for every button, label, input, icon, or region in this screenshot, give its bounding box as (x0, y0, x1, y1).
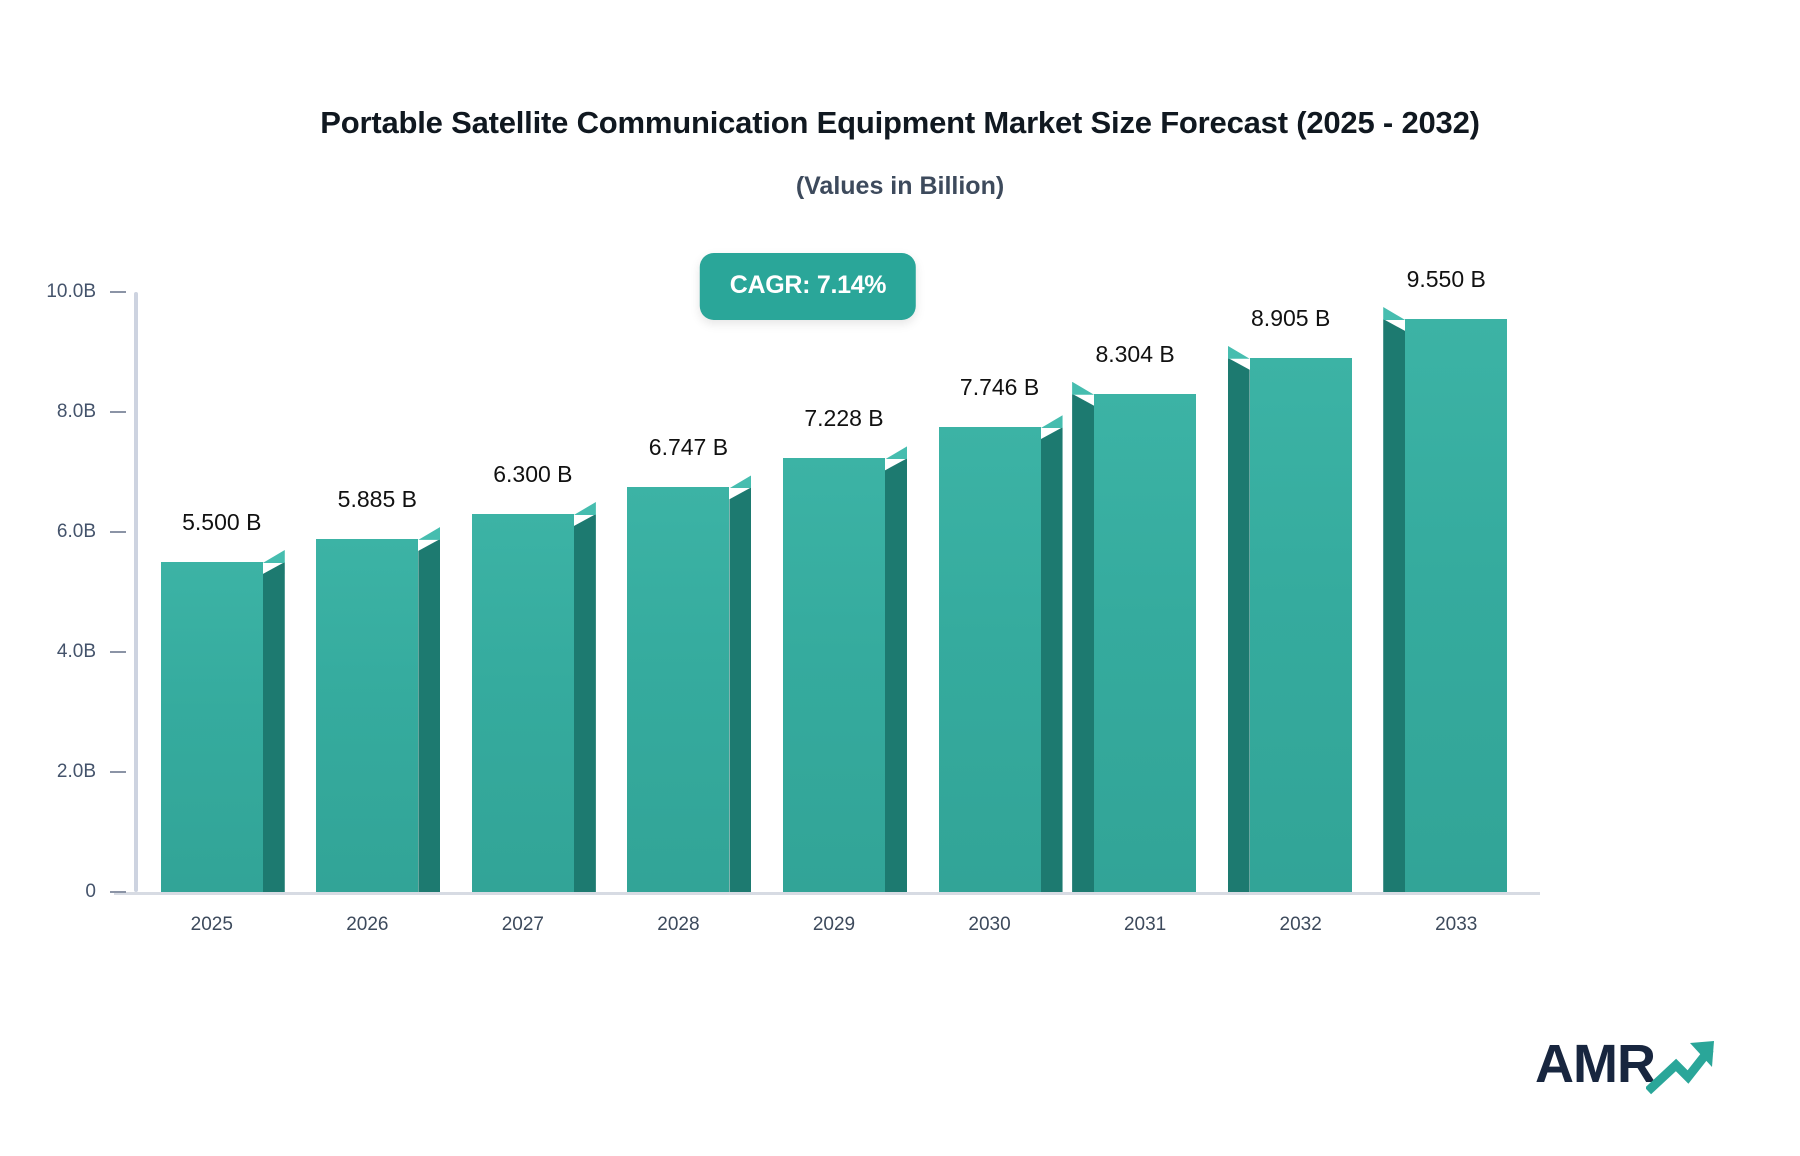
bar[interactable] (783, 458, 885, 892)
y-axis-tick-mark (110, 291, 126, 294)
bar-slot: 7.746 B (939, 292, 1041, 892)
bar-side-face (1383, 319, 1405, 892)
bar[interactable] (161, 562, 263, 892)
bar-slot: 5.885 B (316, 292, 418, 892)
bar[interactable] (1250, 358, 1352, 892)
y-axis-tick: 10.0B (0, 281, 126, 303)
x-axis-tick-label: 2027 (502, 914, 544, 936)
bar-face (783, 458, 885, 892)
y-axis-tick: 0 (0, 881, 126, 903)
y-axis-tick-label: 0 (85, 881, 96, 903)
bar-slot: 7.228 B (783, 292, 885, 892)
bar-value-label: 6.300 B (493, 461, 572, 488)
x-axis-tick-label: 2025 (191, 914, 233, 936)
bar-side-face (574, 514, 596, 892)
bar-top-face (1041, 415, 1063, 428)
bar-face (1250, 358, 1352, 892)
y-axis-tick: 4.0B (0, 641, 126, 663)
y-axis-tick: 6.0B (0, 521, 126, 543)
bar-side-face (263, 562, 285, 892)
bar-slot: 8.304 B (1094, 292, 1196, 892)
bar[interactable] (627, 487, 729, 892)
bar[interactable] (472, 514, 574, 892)
bar-value-label: 5.500 B (182, 509, 261, 536)
bar-value-label: 5.885 B (338, 486, 417, 513)
bar-side-face (1228, 358, 1250, 892)
growth-arrow-icon (1646, 1039, 1716, 1095)
bar-top-face (574, 502, 596, 515)
x-axis-tick-label: 2028 (657, 914, 699, 936)
bar[interactable] (939, 427, 1041, 892)
bar-value-label: 8.304 B (1095, 341, 1174, 368)
bar-side-face (1041, 427, 1063, 892)
y-axis-tick-mark (110, 771, 126, 774)
bar-face (939, 427, 1041, 892)
y-axis-tick: 2.0B (0, 761, 126, 783)
y-axis-tick-mark (110, 891, 126, 894)
amr-logo-text: AMR (1535, 1035, 1655, 1093)
bar-top-face (885, 446, 907, 459)
bar-slot: 6.300 B (472, 292, 574, 892)
bar-face (1094, 394, 1196, 892)
chart-title: Portable Satellite Communication Equipme… (0, 105, 1800, 141)
bar-value-label: 7.746 B (960, 374, 1039, 401)
bar-face (161, 562, 263, 892)
bar-series: 5.500 B5.885 B6.300 B6.747 B7.228 B7.746… (134, 292, 1534, 892)
amr-logo: AMR (1535, 1035, 1715, 1105)
bar[interactable] (1405, 319, 1507, 892)
bar-face (472, 514, 574, 892)
bar-side-face (885, 458, 907, 892)
bar-slot: 5.500 B (161, 292, 263, 892)
bar-top-face (1228, 346, 1250, 359)
y-axis-tick-label: 8.0B (57, 401, 96, 423)
x-axis-tick-label: 2033 (1435, 914, 1477, 936)
bar-value-label: 8.905 B (1251, 305, 1330, 332)
bar-top-face (263, 550, 285, 563)
x-axis-line (114, 892, 1540, 895)
bar-top-face (729, 475, 751, 488)
bar-slot: 6.747 B (627, 292, 729, 892)
bar[interactable] (1094, 394, 1196, 892)
chart-container: Portable Satellite Communication Equipme… (0, 0, 1800, 1156)
bar-side-face (729, 487, 751, 892)
bar-slot: 8.905 B (1250, 292, 1352, 892)
bar-face (1405, 319, 1507, 892)
bar-top-face (1072, 382, 1094, 395)
bar-top-face (1383, 307, 1405, 320)
chart-subtitle: (Values in Billion) (0, 172, 1800, 201)
x-axis-tick-label: 2029 (813, 914, 855, 936)
x-axis-tick-label: 2032 (1280, 914, 1322, 936)
y-axis-tick-label: 10.0B (46, 281, 96, 303)
bar-side-face (1072, 394, 1094, 892)
y-axis-tick: 8.0B (0, 401, 126, 423)
bar-value-label: 9.550 B (1407, 266, 1486, 293)
bar-slot: 9.550 B (1405, 292, 1507, 892)
x-axis-tick-label: 2030 (968, 914, 1010, 936)
bar-side-face (418, 539, 440, 892)
bar-value-label: 7.228 B (804, 405, 883, 432)
bar-value-label: 6.747 B (649, 434, 728, 461)
x-axis-tick-label: 2031 (1124, 914, 1166, 936)
y-axis-tick-label: 4.0B (57, 641, 96, 663)
bar[interactable] (316, 539, 418, 892)
y-axis-tick-mark (110, 411, 126, 414)
bar-face (316, 539, 418, 892)
bar-top-face (418, 527, 440, 540)
y-axis-tick-mark (110, 651, 126, 654)
plot-area: 10.0B8.0B6.0B4.0B2.0B0 5.500 B5.885 B6.3… (134, 292, 1534, 892)
x-axis-tick-label: 2026 (346, 914, 388, 936)
y-axis-tick-label: 6.0B (57, 521, 96, 543)
y-axis-tick-label: 2.0B (57, 761, 96, 783)
bar-face (627, 487, 729, 892)
y-axis-tick-mark (110, 531, 126, 534)
